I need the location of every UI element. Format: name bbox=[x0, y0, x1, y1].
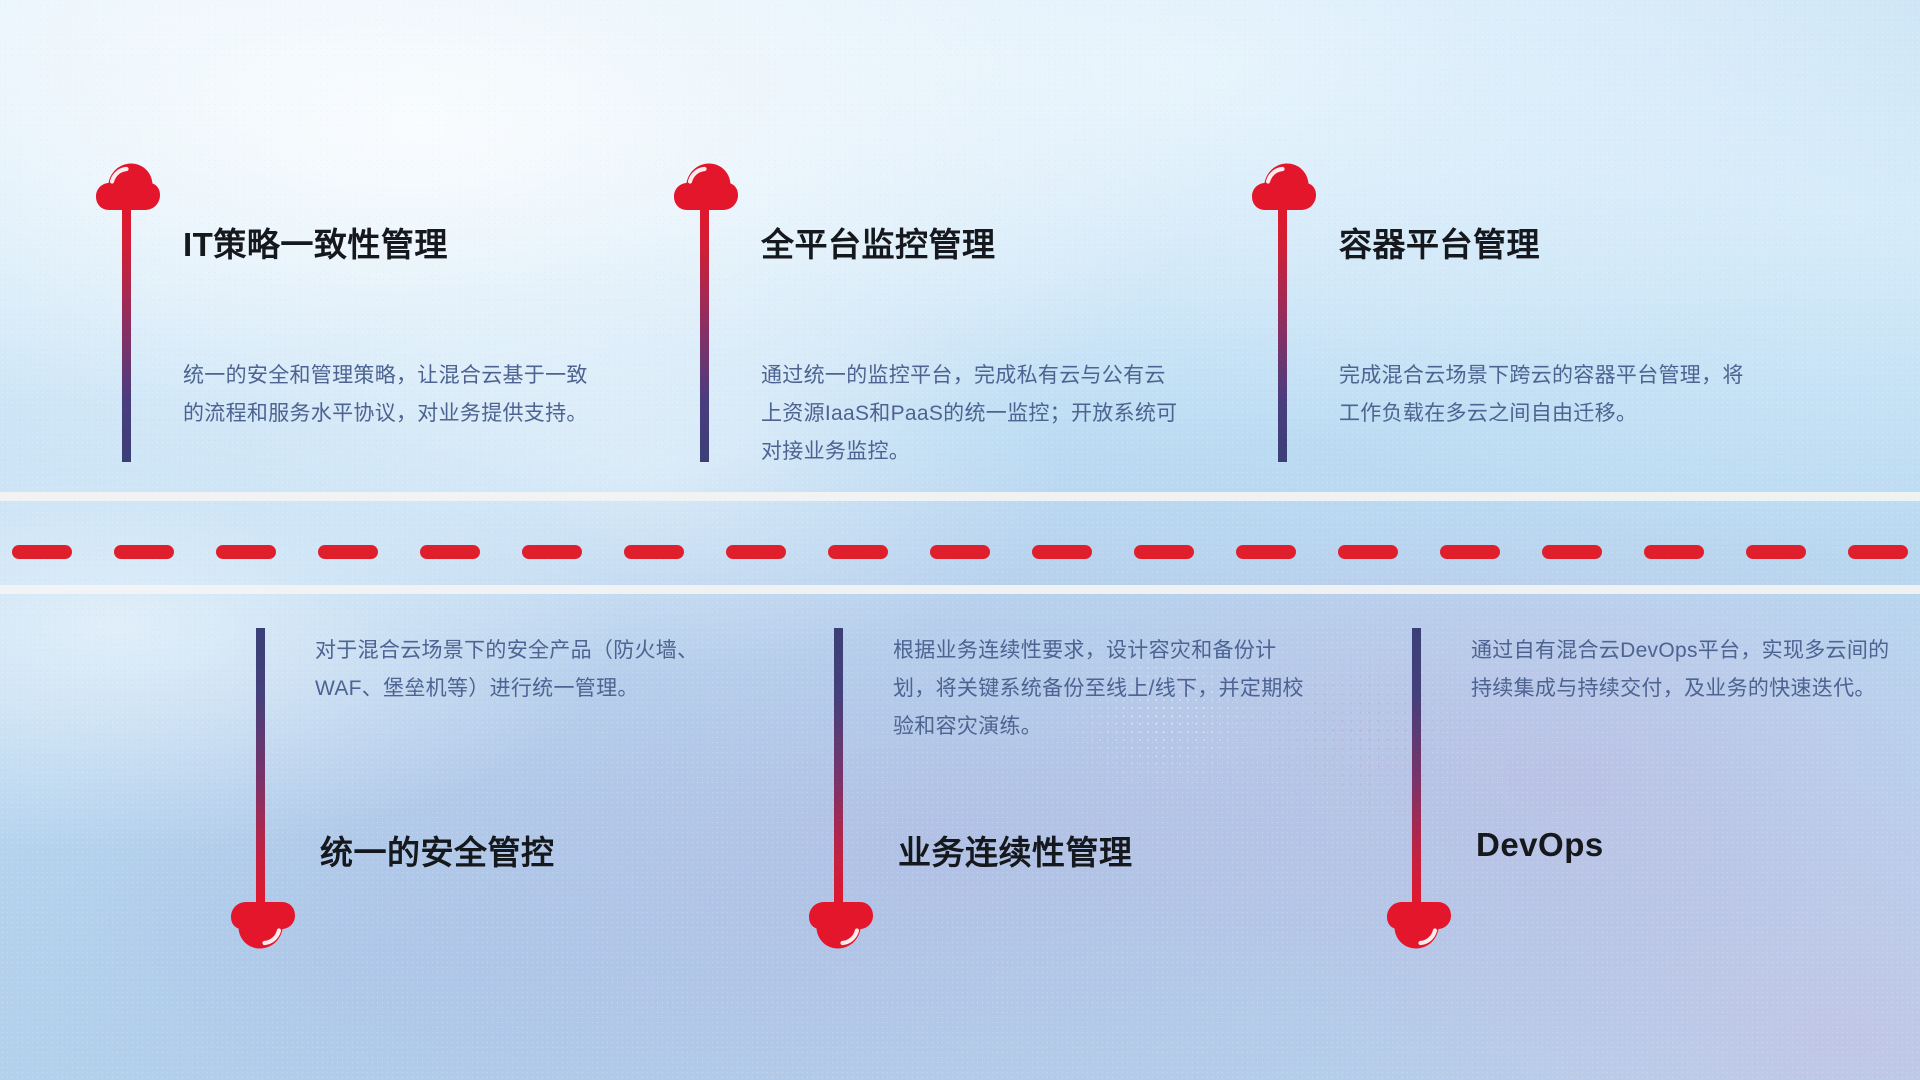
cloud-icon bbox=[808, 898, 874, 952]
divider-dash bbox=[1032, 545, 1092, 559]
divider-rule-top bbox=[0, 492, 1920, 501]
divider-dash bbox=[12, 545, 72, 559]
cloud-icon bbox=[1386, 898, 1452, 952]
top-body-1: 统一的安全和管理策略，让混合云基于一致的流程和服务水平协议，对业务提供支持。 bbox=[183, 357, 603, 433]
divider-dash bbox=[624, 545, 684, 559]
cloud-icon bbox=[230, 898, 296, 952]
bottom-heading-2: 业务连续性管理 bbox=[898, 826, 1133, 874]
divider-dash bbox=[114, 545, 174, 559]
top-heading-2: 全平台监控管理 bbox=[761, 218, 996, 266]
divider-dash bbox=[1440, 545, 1500, 559]
dashed-red-divider bbox=[0, 545, 1920, 559]
connector-stem bbox=[1412, 628, 1421, 908]
bottom-heading-3: DevOps bbox=[1476, 826, 1604, 864]
connector-stem bbox=[256, 628, 265, 908]
connector-stem bbox=[700, 200, 709, 462]
divider-rule-bottom bbox=[0, 585, 1920, 594]
bottom-body-1: 对于混合云场景下的安全产品（防火墙、WAF、堡垒机等）进行统一管理。 bbox=[315, 632, 735, 708]
divider-dash bbox=[1848, 545, 1908, 559]
top-heading-3: 容器平台管理 bbox=[1339, 218, 1540, 266]
bottom-body-3: 通过自有混合云DevOps平台，实现多云间的持续集成与持续交付，及业务的快速迭代… bbox=[1471, 632, 1891, 708]
divider-dash bbox=[1338, 545, 1398, 559]
divider-dash bbox=[420, 545, 480, 559]
divider-dash bbox=[726, 545, 786, 559]
divider-dash bbox=[1236, 545, 1296, 559]
divider-dash bbox=[318, 545, 378, 559]
bottom-heading-1: 统一的安全管控 bbox=[320, 826, 555, 874]
top-heading-1: IT策略一致性管理 bbox=[183, 218, 448, 266]
divider-dash bbox=[828, 545, 888, 559]
divider-dash bbox=[1134, 545, 1194, 559]
divider-dash bbox=[1644, 545, 1704, 559]
top-body-3: 完成混合云场景下跨云的容器平台管理，将工作负载在多云之间自由迁移。 bbox=[1339, 357, 1759, 433]
bottom-body-2: 根据业务连续性要求，设计容灾和备份计划，将关键系统备份至线上/线下，并定期校验和… bbox=[893, 632, 1313, 746]
divider-dash bbox=[930, 545, 990, 559]
connector-stem bbox=[122, 200, 131, 462]
divider-dash bbox=[522, 545, 582, 559]
connector-stem bbox=[1278, 200, 1287, 462]
top-body-2: 通过统一的监控平台，完成私有云与公有云上资源IaaS和PaaS的统一监控；开放系… bbox=[761, 357, 1181, 471]
divider-dash bbox=[1542, 545, 1602, 559]
divider-dash bbox=[1746, 545, 1806, 559]
divider-dash bbox=[216, 545, 276, 559]
connector-stem bbox=[834, 628, 843, 908]
